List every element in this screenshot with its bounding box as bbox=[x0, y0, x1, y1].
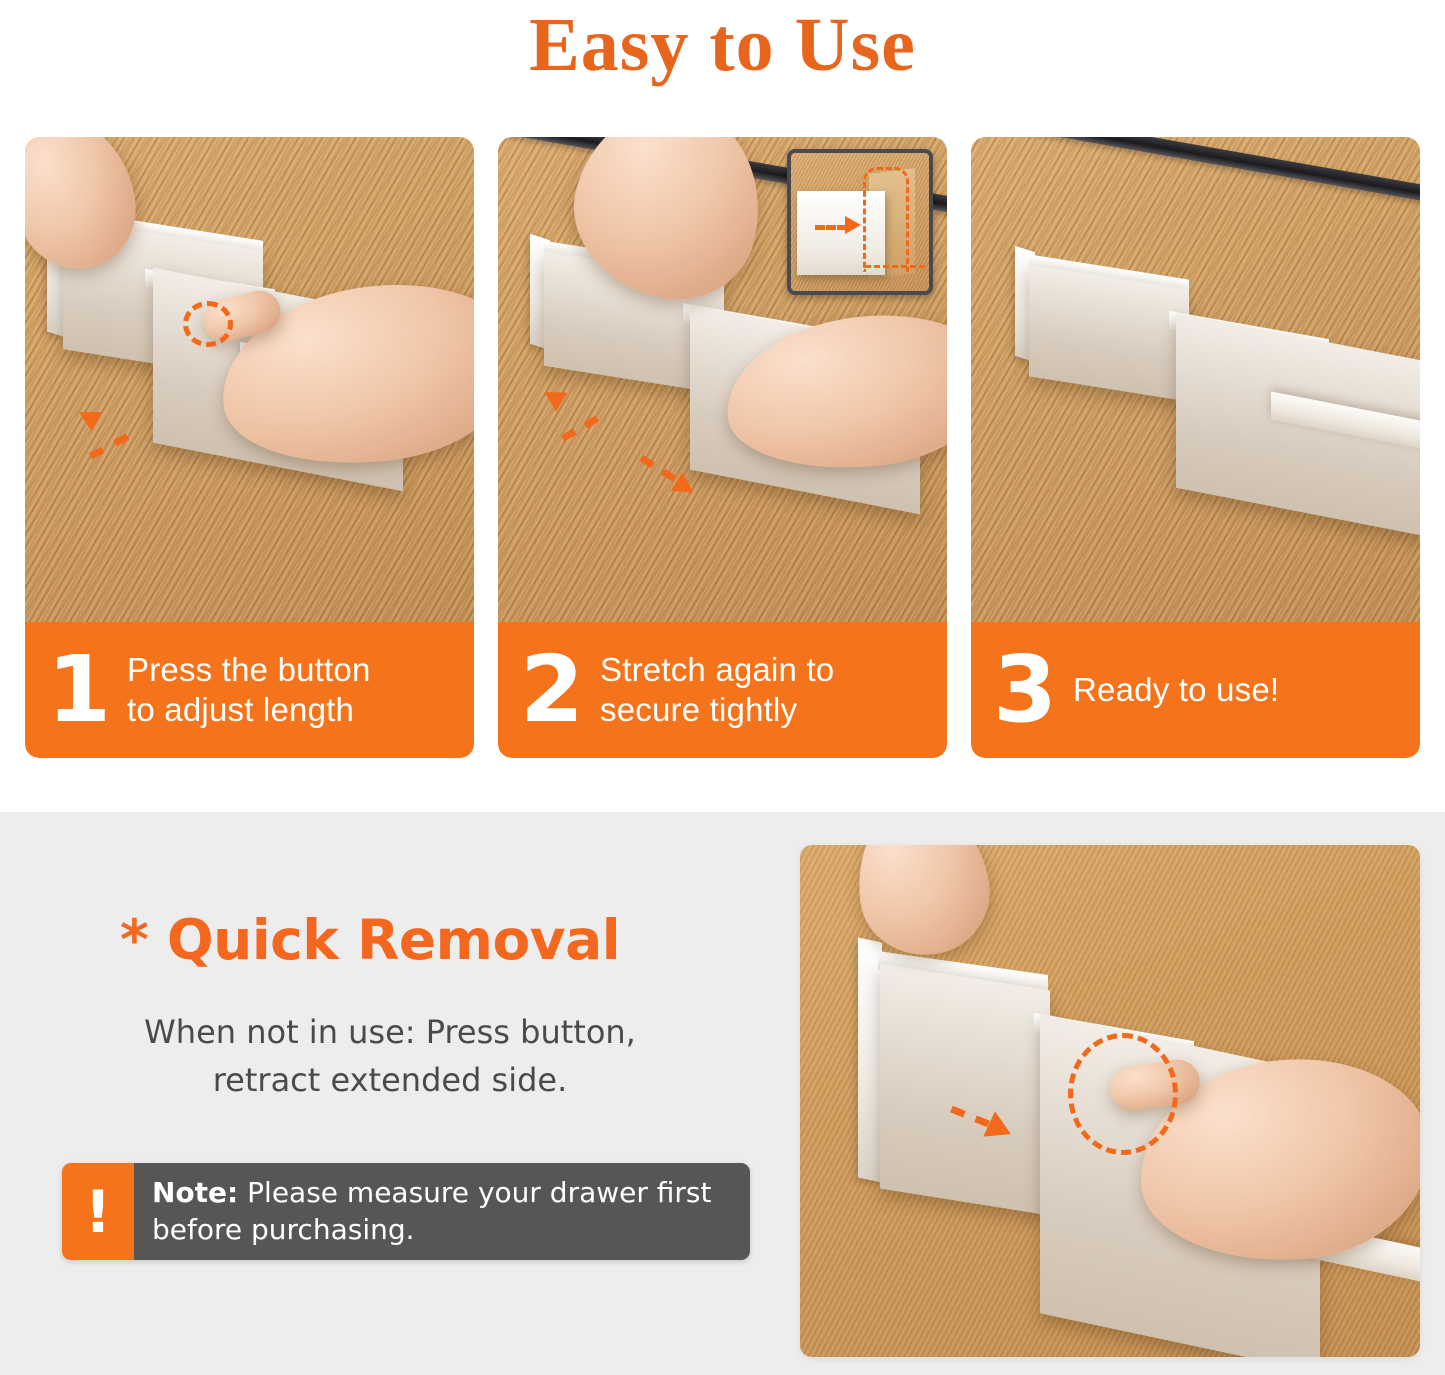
stretch-arrow-right-line bbox=[639, 455, 677, 482]
quick-removal-description: When not in use: Press button, retract e… bbox=[60, 1008, 720, 1104]
inset-arrow-head bbox=[845, 216, 861, 234]
stretch-arrow-left-line bbox=[561, 415, 599, 441]
exclamation-icon: ! bbox=[62, 1163, 134, 1260]
removal-desc-line2: retract extended side. bbox=[213, 1061, 568, 1099]
step-3-caption: 3 Ready to use! bbox=[971, 622, 1420, 758]
step-1-line2: to adjust length bbox=[127, 691, 354, 728]
step-3-text: Ready to use! bbox=[1073, 670, 1279, 710]
adjust-arrow-head bbox=[74, 403, 102, 432]
stretch-arrow-left-head bbox=[539, 382, 567, 411]
button-highlight-circle bbox=[183, 301, 233, 347]
divider-end-cap bbox=[858, 937, 882, 1182]
step-1-caption: 1 Press the button to adjust length bbox=[25, 622, 474, 758]
step-2-caption: 2 Stretch again to secure tightly bbox=[498, 622, 947, 758]
quick-removal-photo bbox=[800, 845, 1420, 1357]
step-1-number: 1 bbox=[47, 648, 109, 733]
inset-arrow-line bbox=[815, 225, 847, 230]
removal-desc-line1: When not in use: Press button, bbox=[144, 1013, 636, 1051]
drawer-rail bbox=[971, 137, 1420, 221]
step-2-line1: Stretch again to bbox=[600, 651, 834, 688]
adjust-arrow-line bbox=[89, 434, 129, 460]
page-title: Easy to Use bbox=[0, 0, 1445, 90]
step-card-1: 1 Press the button to adjust length bbox=[25, 137, 474, 758]
steps-row: 1 Press the button to adjust length bbox=[25, 137, 1420, 758]
divider-left-panel bbox=[880, 964, 1050, 1216]
easy-to-use-section: Easy to Use bbox=[0, 0, 1445, 812]
step-1-line1: Press the button bbox=[127, 651, 371, 688]
step-2-number: 2 bbox=[520, 648, 582, 733]
note-box: ! Note: Please measure your drawer first… bbox=[62, 1163, 750, 1260]
step-1-text: Press the button to adjust length bbox=[127, 650, 371, 731]
divider-left-panel bbox=[1029, 264, 1189, 401]
step-card-2: 2 Stretch again to secure tightly bbox=[498, 137, 947, 758]
step-2-text: Stretch again to secure tightly bbox=[600, 650, 834, 731]
step-2-line2: secure tightly bbox=[600, 691, 797, 728]
quick-removal-title: * Quick Removal bbox=[120, 908, 620, 972]
inset-dashed-base bbox=[865, 265, 925, 268]
inset-dashed-outline bbox=[863, 167, 909, 272]
inset-thumbnail bbox=[787, 149, 933, 295]
step-3-number: 3 bbox=[993, 648, 1055, 733]
button-highlight-circle bbox=[1068, 1033, 1178, 1155]
step-1-photo bbox=[25, 137, 474, 622]
step-2-photo bbox=[498, 137, 947, 622]
note-text: Note: Please measure your drawer first b… bbox=[134, 1163, 750, 1260]
note-label: Note: bbox=[152, 1176, 238, 1209]
step-card-3: 3 Ready to use! bbox=[971, 137, 1420, 758]
step-3-photo bbox=[971, 137, 1420, 622]
